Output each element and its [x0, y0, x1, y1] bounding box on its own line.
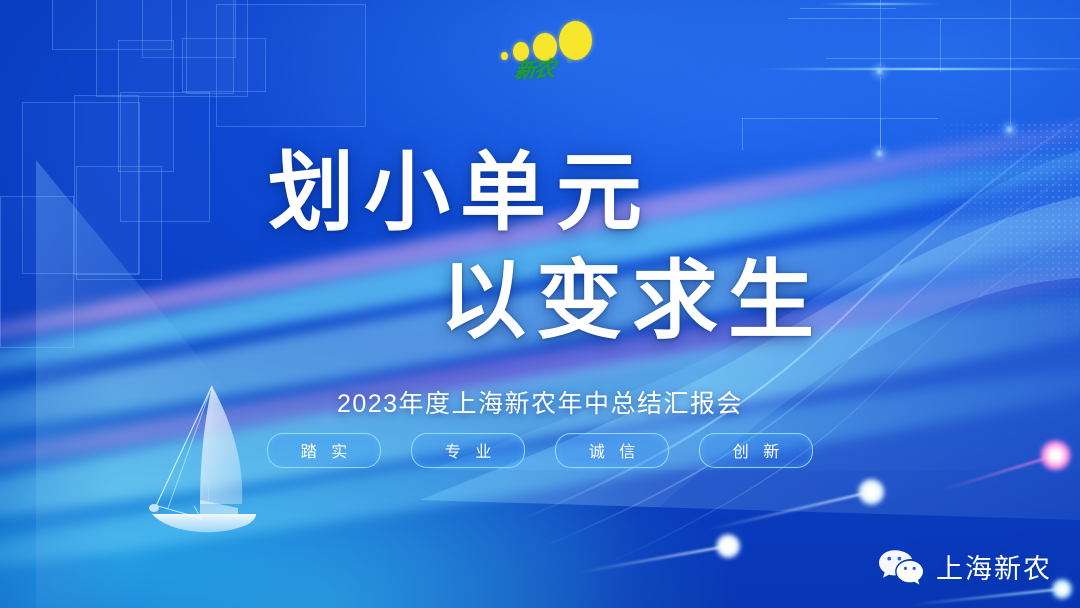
wechat-icon	[878, 548, 924, 586]
logo-dot	[501, 52, 508, 60]
value-tag-1: 专 业	[411, 433, 525, 468]
value-tag-0: 踏 实	[267, 433, 381, 468]
company-logo: 新农 ®	[495, 18, 600, 96]
comet-head	[1051, 578, 1073, 600]
logo-dot	[559, 21, 592, 60]
headline-line-1: 划小单元	[268, 150, 652, 236]
wechat-badge: 上海新农	[878, 547, 1052, 586]
value-tags-row: 踏 实专 业诚 信创 新	[0, 433, 1080, 468]
value-tag-2: 诚 信	[555, 433, 669, 468]
logo-dot	[513, 42, 529, 61]
comet-head	[714, 532, 742, 560]
event-subtitle: 2023年度上海新农年中总结汇报会	[0, 384, 1080, 420]
logo-brand-text: 新农	[514, 59, 555, 82]
wechat-account-name: 上海新农	[936, 547, 1052, 586]
logo-ellipse-dots	[495, 18, 600, 96]
value-tag-3: 创 新	[699, 433, 813, 468]
conference-poster: 新农 ® 划小单元 以变求生 2023年度上海新农年中总结汇报会 踏 实专 业诚…	[0, 0, 1080, 608]
logo-registered-mark: ®	[567, 58, 572, 65]
headline-line-2: 以变求生	[440, 258, 824, 344]
